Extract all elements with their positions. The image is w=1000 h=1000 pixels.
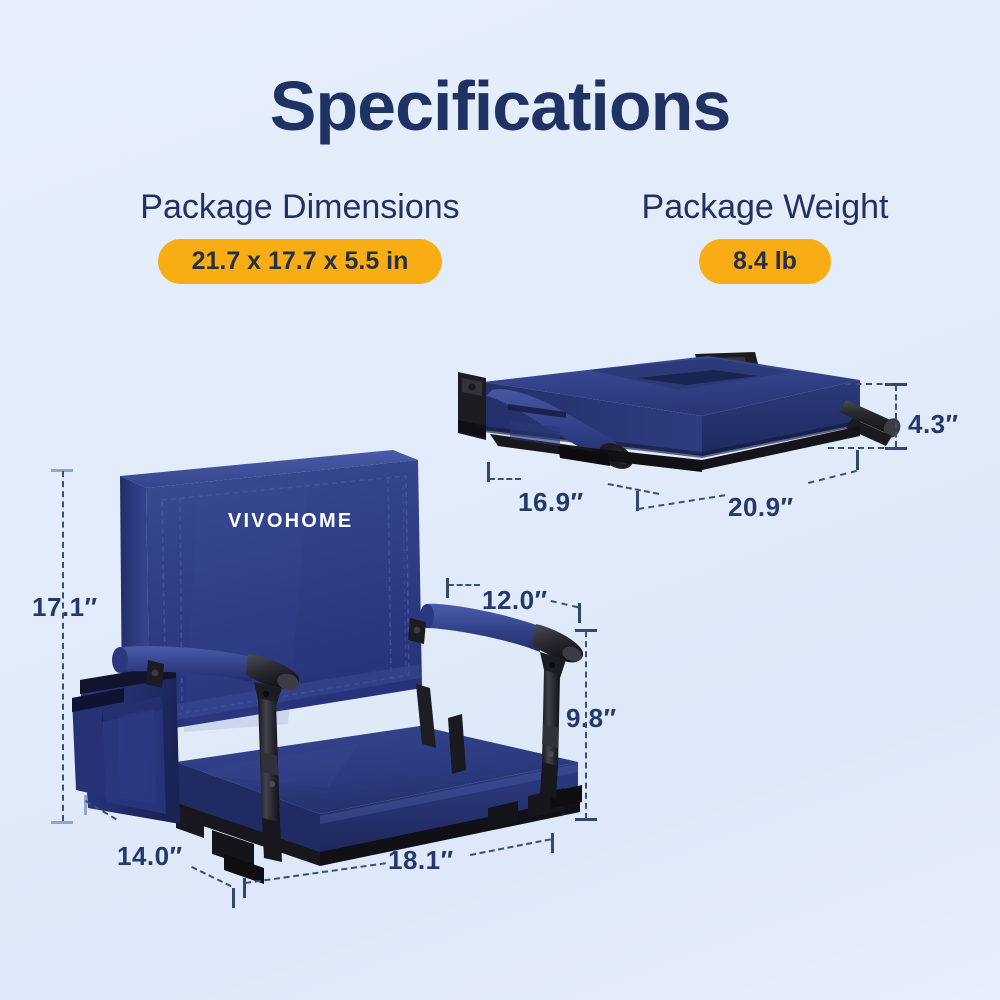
dim-label-width: 18.1″ [388,845,454,876]
dim-line-height [62,471,64,821]
spec-label-package-dimensions: Package Dimensions [80,185,520,229]
dim-label-folded-width: 20.9″ [728,492,794,523]
dim-label-folded-thickness: 4.3″ [908,409,959,440]
spec-badge-package-dimensions: 21.7 x 17.7 x 5.5 in [158,239,443,284]
dim-line-folded-thickness [895,385,897,447]
dim-cap-armrest-length-right [578,603,581,623]
dim-line-armrest-height [585,631,587,819]
page-title: Specifications [0,66,1000,146]
dim-label-armrest-length: 12.0″ [482,585,548,616]
specifications-infographic: Specifications Package Dimensions 21.7 x… [0,0,1000,1000]
dim-guide-folded-top [845,383,893,385]
dim-cap-width-right [551,833,554,853]
dim-cap-folded-width-right [856,450,859,470]
dim-label-height: 17.1″ [32,592,98,623]
dim-cap-depth-top [84,795,87,815]
spec-package-dimensions: Package Dimensions 21.7 x 17.7 x 5.5 in [80,185,520,284]
spec-label-package-weight: Package Weight [585,185,945,229]
dim-cap-depth-bottom [232,888,235,908]
dim-line-armrest-length-a [448,584,480,586]
spec-badge-package-weight: 8.4 lb [699,239,831,284]
folded-frame-left [458,372,486,440]
spec-package-weight: Package Weight 8.4 lb [585,185,945,284]
dim-guide-folded-bottom [828,447,894,449]
dim-label-depth: 14.0″ [117,841,183,872]
chair-side-pocket [72,664,180,824]
dim-cap-height-bottom [51,821,73,824]
svg-text:VIVOHOME: VIVOHOME [228,510,353,532]
dim-cap-armrest-length-left [446,578,449,598]
dim-label-armrest-height: 9.8″ [566,703,617,734]
brand-logo: VIVOHOME [228,510,353,532]
